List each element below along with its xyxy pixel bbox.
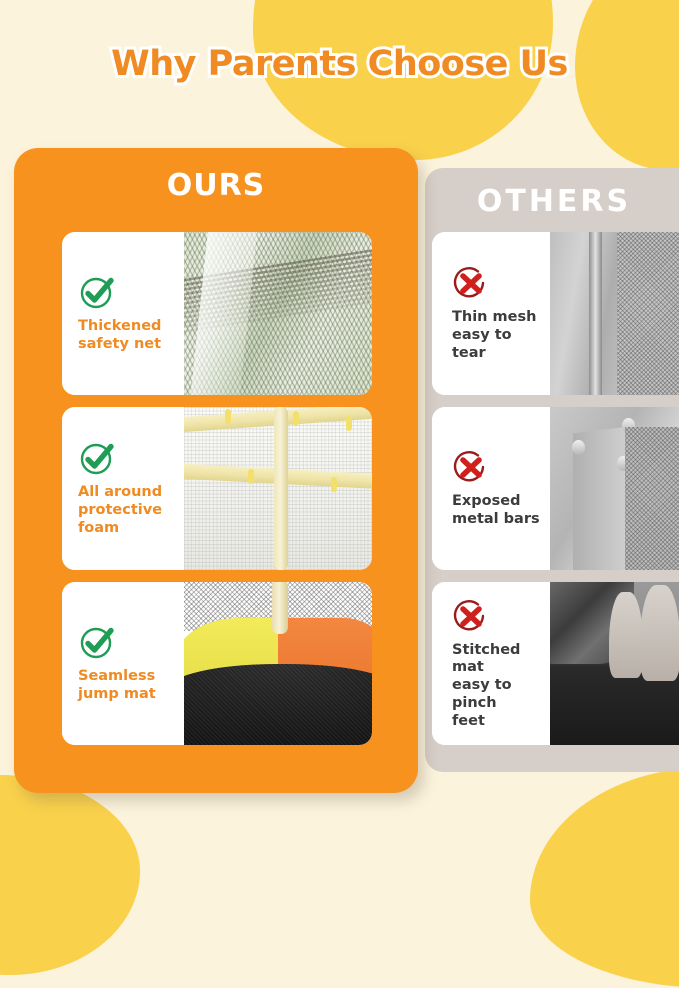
others-card-label-text: Exposedmetal bars [452, 493, 550, 528]
foam-tick [248, 469, 254, 484]
ours-card-label-text: All aroundprotectivefoam [78, 484, 184, 537]
foam-pole [274, 407, 288, 570]
mat-black-surface [184, 664, 372, 746]
foam-tick [331, 477, 337, 492]
cross-circle-icon [452, 597, 550, 635]
ours-card-label-block: Seamlessjump mat [62, 582, 184, 745]
others-card-list: Thin mesheasy to tear Exposedmetal bars [432, 232, 679, 757]
foot [609, 592, 643, 678]
ours-card-label-text: Thickenedsafety net [78, 318, 184, 353]
background-blob-bottom-right [530, 768, 679, 988]
ours-card-safety-net: Thickenedsafety net [62, 232, 372, 395]
ours-card-label-block: All aroundprotectivefoam [62, 407, 184, 570]
check-circle-icon [78, 439, 184, 477]
yellow-orange-jump-mat-photo [184, 582, 372, 745]
others-card-label-block: Thin mesheasy to tear [432, 232, 550, 395]
others-card-label-block: Exposedmetal bars [432, 407, 550, 570]
others-card-metal-bars: Exposedmetal bars [432, 407, 679, 570]
check-circle-icon [78, 273, 184, 311]
foam-tick [346, 416, 352, 431]
green-safety-net-photo [184, 232, 372, 395]
foot [640, 585, 679, 681]
exposed-metal-bars-photo [550, 407, 679, 570]
foam-padded-poles-photo [184, 407, 372, 570]
metal-pole-knob [617, 456, 630, 471]
others-card-label-text: Stitched mateasy to pinchfeet [452, 642, 550, 730]
metal-pole-knob [572, 440, 585, 455]
foam-tick [225, 409, 231, 424]
cross-circle-icon [452, 264, 550, 302]
mat-support-pole [272, 582, 288, 634]
others-card-label-text: Thin mesheasy to tear [452, 309, 550, 362]
thin-grey-mesh-photo [550, 232, 679, 395]
page-title: Why Parents Choose Us [111, 44, 568, 84]
ours-card-jump-mat: Seamlessjump mat [62, 582, 372, 745]
others-card-stitched-mat: Stitched mateasy to pinchfeet [432, 582, 679, 745]
foam-tick [293, 411, 299, 426]
ours-card-label-block: Thickenedsafety net [62, 232, 184, 395]
feet-on-stitched-mat-photo [550, 582, 679, 745]
others-heading: OTHERS [425, 184, 679, 219]
page-title-wrapper: Why Parents Choose Us [0, 44, 679, 84]
background-blob-bottom-left [0, 775, 140, 975]
background-blob-top-right [575, 0, 679, 170]
cross-circle-icon [452, 448, 550, 486]
ours-card-protective-foam: All aroundprotectivefoam [62, 407, 372, 570]
ours-heading: OURS [14, 148, 418, 203]
metal-pole-knob [622, 418, 635, 433]
others-card-thin-mesh: Thin mesheasy to tear [432, 232, 679, 395]
ours-card-label-text: Seamlessjump mat [78, 668, 184, 703]
ours-card-list: Thickenedsafety net All aroundprotective… [62, 232, 372, 757]
check-circle-icon [78, 623, 184, 661]
others-card-label-block: Stitched mateasy to pinchfeet [432, 582, 550, 745]
